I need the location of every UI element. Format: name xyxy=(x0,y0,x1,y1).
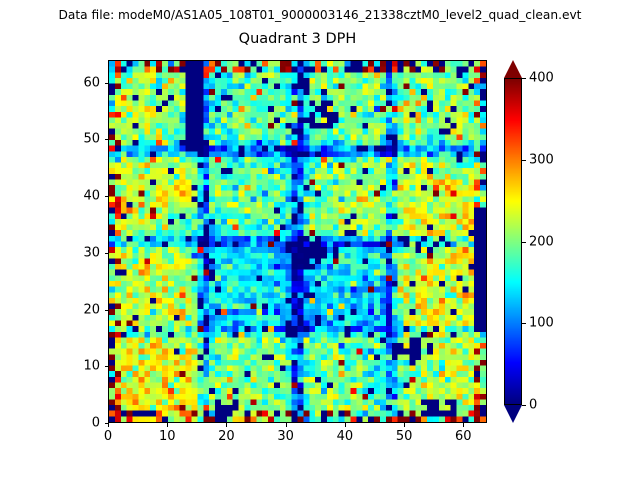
x-tick-mark xyxy=(286,423,287,427)
x-tick-label: 20 xyxy=(218,429,235,444)
figure-canvas: Data file: modeM0/AS1A05_108T01_90000031… xyxy=(0,0,640,480)
x-tick-mark xyxy=(167,423,168,427)
colorbar-tick-mark xyxy=(522,78,526,79)
y-tick-label: 0 xyxy=(62,416,100,431)
x-tick-label: 50 xyxy=(396,429,413,444)
data-file-suptitle: Data file: modeM0/AS1A05_108T01_90000031… xyxy=(0,8,640,22)
x-tick-label: 40 xyxy=(337,429,354,444)
y-tick-label: 20 xyxy=(62,302,100,317)
colorbar-tick-label: 400 xyxy=(529,71,554,86)
colorbar-body xyxy=(504,78,522,405)
x-tick-mark xyxy=(226,423,227,427)
colorbar[interactable]: 0100200300400 xyxy=(504,60,522,423)
y-tick-label: 40 xyxy=(62,189,100,204)
y-tick-mark xyxy=(105,139,109,140)
x-tick-label: 0 xyxy=(104,429,112,444)
colorbar-tick-label: 200 xyxy=(529,234,554,249)
x-tick-mark xyxy=(108,423,109,427)
y-tick-mark xyxy=(105,83,109,84)
colorbar-under-arrow-icon xyxy=(504,405,522,423)
colorbar-tick-mark xyxy=(522,242,526,243)
colorbar-tick-label: 100 xyxy=(529,316,554,331)
colorbar-gradient xyxy=(505,79,521,404)
x-tick-label: 30 xyxy=(277,429,294,444)
x-tick-mark xyxy=(463,423,464,427)
colorbar-tick-mark xyxy=(522,405,526,406)
y-tick-label: 50 xyxy=(62,132,100,147)
colorbar-over-arrow-icon xyxy=(504,60,522,78)
x-tick-mark xyxy=(345,423,346,427)
y-tick-label: 30 xyxy=(62,245,100,260)
y-tick-label: 10 xyxy=(62,359,100,374)
colorbar-tick-mark xyxy=(522,323,526,324)
colorbar-tick-mark xyxy=(522,160,526,161)
y-tick-label: 60 xyxy=(62,75,100,90)
y-tick-mark xyxy=(105,310,109,311)
y-tick-mark xyxy=(105,196,109,197)
y-tick-mark xyxy=(105,366,109,367)
colorbar-tick-label: 0 xyxy=(529,398,537,413)
colorbar-tick-label: 300 xyxy=(529,152,554,167)
x-tick-mark xyxy=(404,423,405,427)
page-title: Quadrant 3 DPH xyxy=(108,30,487,48)
x-tick-label: 60 xyxy=(455,429,472,444)
x-tick-label: 10 xyxy=(159,429,176,444)
y-tick-mark xyxy=(105,253,109,254)
detector-pixel-heatmap[interactable] xyxy=(109,61,486,422)
heatmap-axes[interactable] xyxy=(108,60,487,423)
y-tick-mark xyxy=(105,423,109,424)
